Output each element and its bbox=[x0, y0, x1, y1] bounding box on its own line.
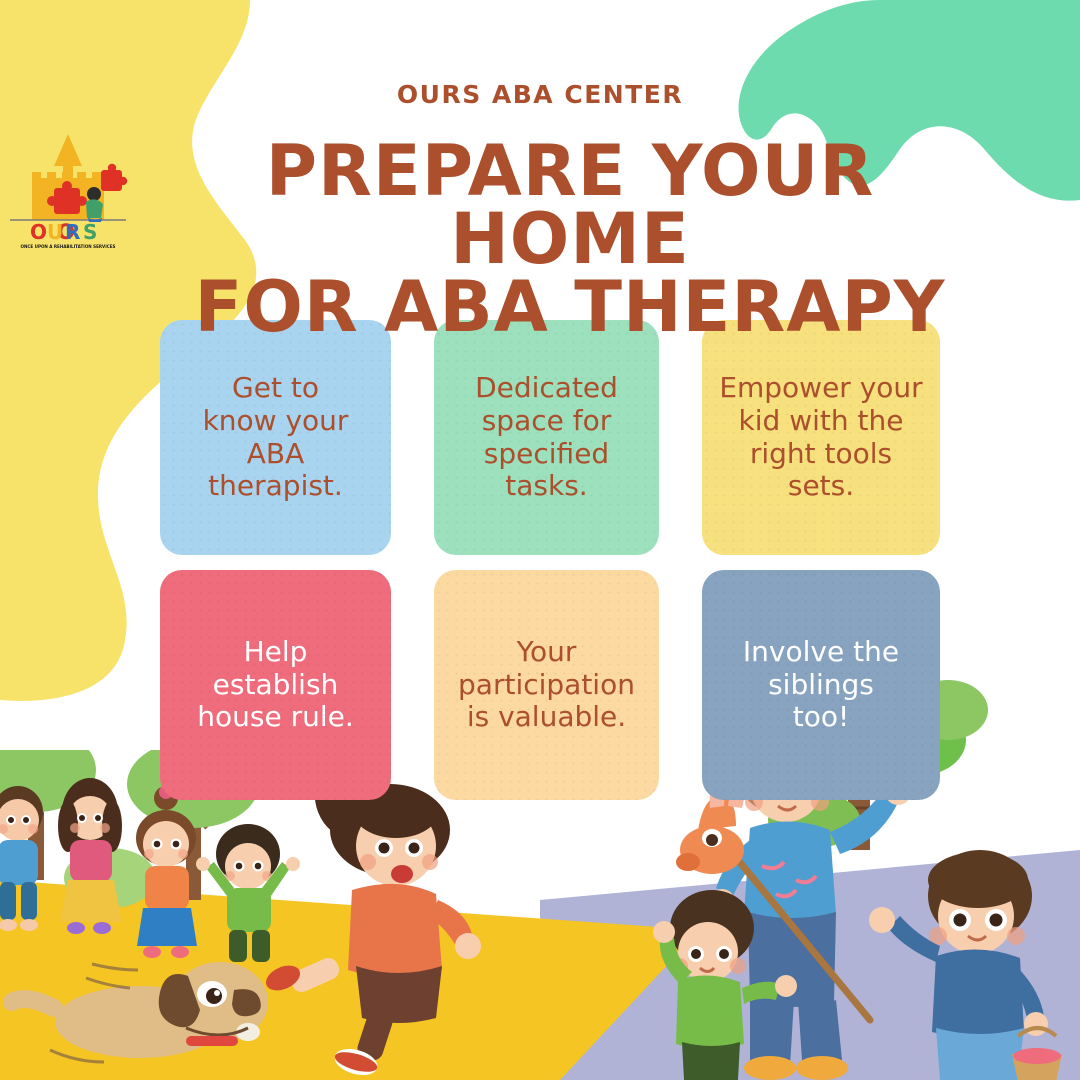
tip-card-4[interactable]: Help establish house rule. bbox=[160, 570, 391, 800]
ours-logo[interactable]: O O O U R S ONCE UPON A REHABILITATION S… bbox=[8, 126, 128, 251]
logo-letter-o: O bbox=[30, 220, 47, 244]
dog-illustration bbox=[12, 962, 268, 1062]
boy-with-basket bbox=[869, 850, 1062, 1080]
title-line-2: FOR ABA THERAPY bbox=[140, 274, 1000, 342]
logo-letter-s: S bbox=[83, 220, 97, 244]
puzzle-piece-held-icon bbox=[101, 164, 127, 191]
tip-card-3-label: Empower your kid with the right tools se… bbox=[719, 372, 922, 503]
tip-card-4-label: Help establish house rule. bbox=[197, 636, 354, 734]
child-green-shirt bbox=[196, 824, 300, 962]
tip-card-2-label: Dedicated space for specified tasks. bbox=[475, 372, 618, 503]
tip-card-1[interactable]: Get to know your ABA therapist. bbox=[160, 320, 391, 555]
tip-card-1-label: Get to know your ABA therapist. bbox=[203, 372, 349, 503]
infographic-canvas: OURS ABA CENTER bbox=[0, 0, 1080, 1080]
tip-card-6-label: Involve the siblings too! bbox=[743, 636, 899, 734]
tip-card-6[interactable]: Involve the siblings too! bbox=[702, 570, 940, 800]
tip-card-5-label: Your participation is valuable. bbox=[458, 636, 635, 734]
running-girl bbox=[262, 771, 481, 1079]
logo-letter-r: R bbox=[65, 220, 80, 244]
tip-card-5[interactable]: Your participation is valuable. bbox=[434, 570, 659, 800]
child-blue-shirt bbox=[0, 786, 43, 931]
brand-line: OURS ABA CENTER bbox=[0, 80, 1080, 109]
tip-card-2[interactable]: Dedicated space for specified tasks. bbox=[434, 320, 659, 555]
tips-card-grid: Get to know your ABA therapist. Dedicate… bbox=[160, 320, 928, 800]
title-line-1: PREPARE YOUR HOME bbox=[266, 130, 875, 280]
logo-tagline: ONCE UPON A REHABILITATION SERVICES bbox=[20, 244, 115, 249]
logo-letter-u: U bbox=[47, 220, 63, 244]
child-figure-icon bbox=[86, 187, 103, 222]
page-title: PREPARE YOUR HOME FOR ABA THERAPY bbox=[140, 138, 1000, 342]
tip-card-3[interactable]: Empower your kid with the right tools se… bbox=[702, 320, 940, 555]
